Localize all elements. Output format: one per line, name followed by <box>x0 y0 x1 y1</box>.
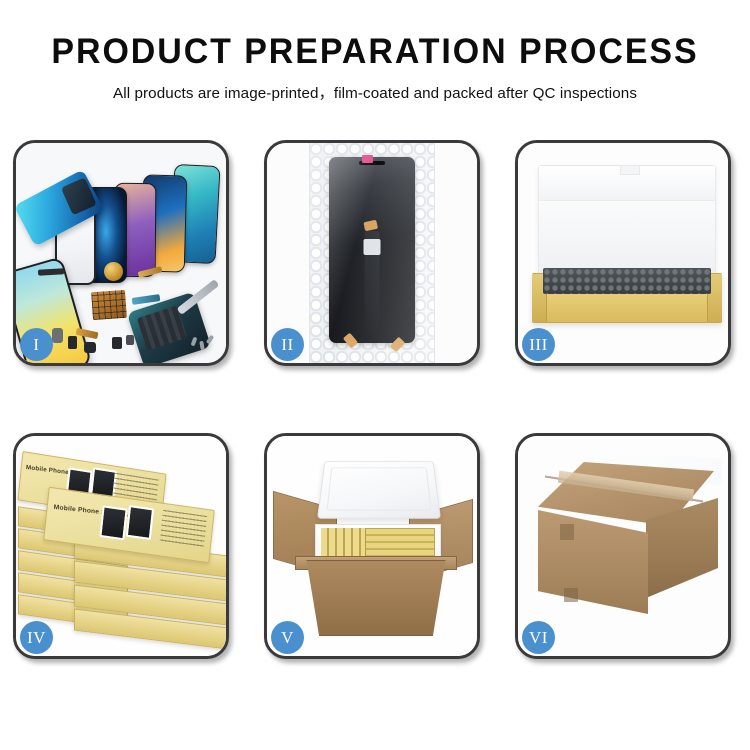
kraft-tray-box <box>532 273 722 323</box>
gold-contact-grid <box>91 290 127 320</box>
lcd-driver-chip <box>364 239 381 255</box>
step-panel-3: III <box>515 140 731 366</box>
small-part-b <box>84 342 96 353</box>
styrofoam-lid-open <box>317 461 441 519</box>
retail-box-stack: Mobile Phone Spare Parts Mobile Phone Sp… <box>16 436 226 656</box>
step-panel-5: V <box>264 433 480 659</box>
box-spec-text-lines <box>160 510 208 550</box>
process-steps-grid: I II <box>13 140 737 659</box>
step-badge-6: VI <box>522 621 555 654</box>
box-window-screen-b <box>126 505 154 540</box>
step-panel-4: Mobile Phone Spare Parts Mobile Phone Sp… <box>13 433 229 659</box>
vibration-motor-icon <box>104 262 123 281</box>
small-part-c <box>112 337 122 349</box>
step-image-6 <box>518 436 728 656</box>
carton-hand-hole-bottom <box>564 588 578 602</box>
pink-qc-sticker <box>362 155 373 163</box>
grey-foam-padding <box>543 268 711 294</box>
box-window-screen-a <box>99 505 127 540</box>
small-part-e <box>52 328 63 343</box>
small-part-d <box>126 335 134 345</box>
page-header: PRODUCT PREPARATION PROCESS All products… <box>0 0 750 103</box>
step-panel-6: VI <box>515 433 731 659</box>
step-badge-5: V <box>271 621 304 654</box>
white-foam-lid <box>538 165 716 285</box>
bubble-wrap-bag <box>309 143 435 363</box>
screws-group <box>192 335 218 353</box>
step-image-2 <box>267 143 477 363</box>
page-subtitle: All products are image-printed，film-coat… <box>0 81 750 103</box>
small-part-a <box>68 336 77 349</box>
step-image-1 <box>16 143 226 363</box>
page-title: PRODUCT PREPARATION PROCESS <box>11 34 739 69</box>
step-panel-2: II <box>264 140 480 366</box>
carton-hand-hole-top <box>560 524 574 540</box>
step-image-3 <box>518 143 728 363</box>
step-badge-4: IV <box>20 621 53 654</box>
step-image-4: Mobile Phone Spare Parts Mobile Phone Sp… <box>16 436 226 656</box>
step-image-5 <box>267 436 477 656</box>
step-badge-3: III <box>522 328 555 361</box>
carton-body <box>297 560 455 636</box>
step-badge-1: I <box>20 328 53 361</box>
step-panel-1: I <box>13 140 229 366</box>
step-badge-2: II <box>271 328 304 361</box>
